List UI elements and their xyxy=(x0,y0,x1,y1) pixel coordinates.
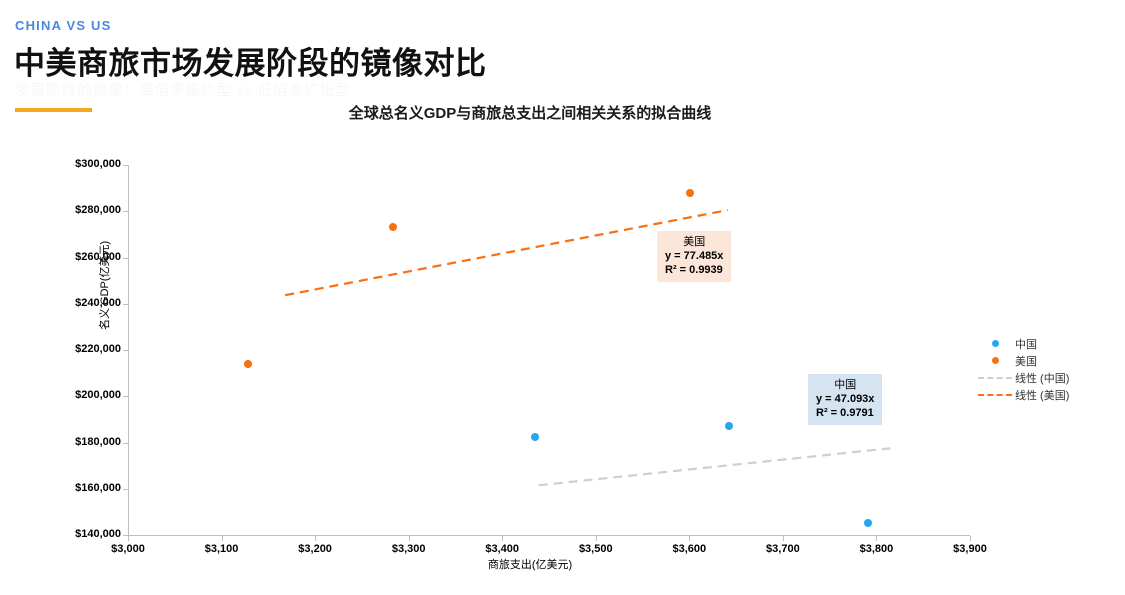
x-tick-label: $3,100 xyxy=(177,543,267,555)
y-tick xyxy=(123,304,128,305)
x-axis-title: 商旅支出(亿美元) xyxy=(0,556,1060,572)
x-tick-label: $3,400 xyxy=(457,543,547,555)
y-tick xyxy=(123,443,128,444)
y-tick xyxy=(123,211,128,212)
x-tick xyxy=(502,536,503,541)
y-tick xyxy=(123,489,128,490)
y-axis-line xyxy=(128,165,129,536)
y-tick-label: $220,000 xyxy=(33,343,121,355)
data-point[interactable] xyxy=(686,189,694,197)
x-tick-label: $3,000 xyxy=(83,543,173,555)
legend-marker xyxy=(978,394,1012,396)
annotation-us-title: 美国 xyxy=(665,235,723,249)
legend-marker xyxy=(992,357,999,364)
trendline xyxy=(539,448,891,485)
annotation-us-equation: y = 77.485x xyxy=(665,249,723,263)
scatter-chart: $140,000$160,000$180,000$200,000$220,000… xyxy=(0,0,1125,595)
x-tick-label: $3,300 xyxy=(364,543,454,555)
legend-dot-icon xyxy=(978,340,1012,347)
x-tick xyxy=(315,536,316,541)
legend-item[interactable]: 线性 (美国) xyxy=(978,386,1069,403)
x-tick-label: $3,800 xyxy=(831,543,921,555)
x-tick xyxy=(596,536,597,541)
legend-item[interactable]: 线性 (中国) xyxy=(978,369,1069,386)
legend-item[interactable]: 中国 xyxy=(978,335,1069,352)
legend-label: 线性 (中国) xyxy=(1015,370,1069,386)
x-tick xyxy=(970,536,971,541)
annotation-cn-title: 中国 xyxy=(816,378,874,392)
annotation-us: 美国 y = 77.485x R² = 0.9939 xyxy=(657,231,731,282)
x-tick-label: $3,600 xyxy=(644,543,734,555)
y-tick-label: $140,000 xyxy=(33,528,121,540)
x-tick-label: $3,700 xyxy=(738,543,828,555)
x-tick-label: $3,500 xyxy=(551,543,641,555)
annotation-us-r2: R² = 0.9939 xyxy=(665,263,723,277)
data-point[interactable] xyxy=(389,223,397,231)
y-tick-label: $280,000 xyxy=(33,204,121,216)
legend-marker xyxy=(992,340,999,347)
y-tick-label: $200,000 xyxy=(33,389,121,401)
y-tick-label: $180,000 xyxy=(33,436,121,448)
legend-marker xyxy=(978,377,1012,379)
data-point[interactable] xyxy=(864,519,872,527)
x-tick xyxy=(689,536,690,541)
data-point[interactable] xyxy=(531,433,539,441)
legend-dash-icon xyxy=(978,394,1012,396)
annotation-cn: 中国 y = 47.093x R² = 0.9791 xyxy=(808,374,882,425)
x-tick-label: $3,200 xyxy=(270,543,360,555)
legend-label: 线性 (美国) xyxy=(1015,387,1069,403)
x-tick xyxy=(128,536,129,541)
data-point[interactable] xyxy=(725,422,733,430)
data-point[interactable] xyxy=(244,360,252,368)
y-tick xyxy=(123,350,128,351)
legend-dash-icon xyxy=(978,377,1012,379)
legend-label: 美国 xyxy=(1015,353,1037,369)
y-tick-label: $300,000 xyxy=(33,158,121,170)
x-tick xyxy=(222,536,223,541)
x-tick-label: $3,900 xyxy=(925,543,1015,555)
legend-dot-icon xyxy=(978,357,1012,364)
chart-legend: 中国美国线性 (中国)线性 (美国) xyxy=(978,335,1069,403)
x-axis-line xyxy=(128,535,970,536)
y-axis-title: 名义 GDP(亿美元) xyxy=(96,316,112,330)
y-tick-label: $160,000 xyxy=(33,482,121,494)
x-tick xyxy=(409,536,410,541)
annotation-cn-equation: y = 47.093x xyxy=(816,392,874,406)
legend-label: 中国 xyxy=(1015,336,1037,352)
y-tick xyxy=(123,165,128,166)
trendline-layer xyxy=(0,0,1125,595)
legend-item[interactable]: 美国 xyxy=(978,352,1069,369)
annotation-cn-r2: R² = 0.9791 xyxy=(816,406,874,420)
y-tick xyxy=(123,258,128,259)
y-tick xyxy=(123,396,128,397)
x-tick xyxy=(876,536,877,541)
x-tick xyxy=(783,536,784,541)
